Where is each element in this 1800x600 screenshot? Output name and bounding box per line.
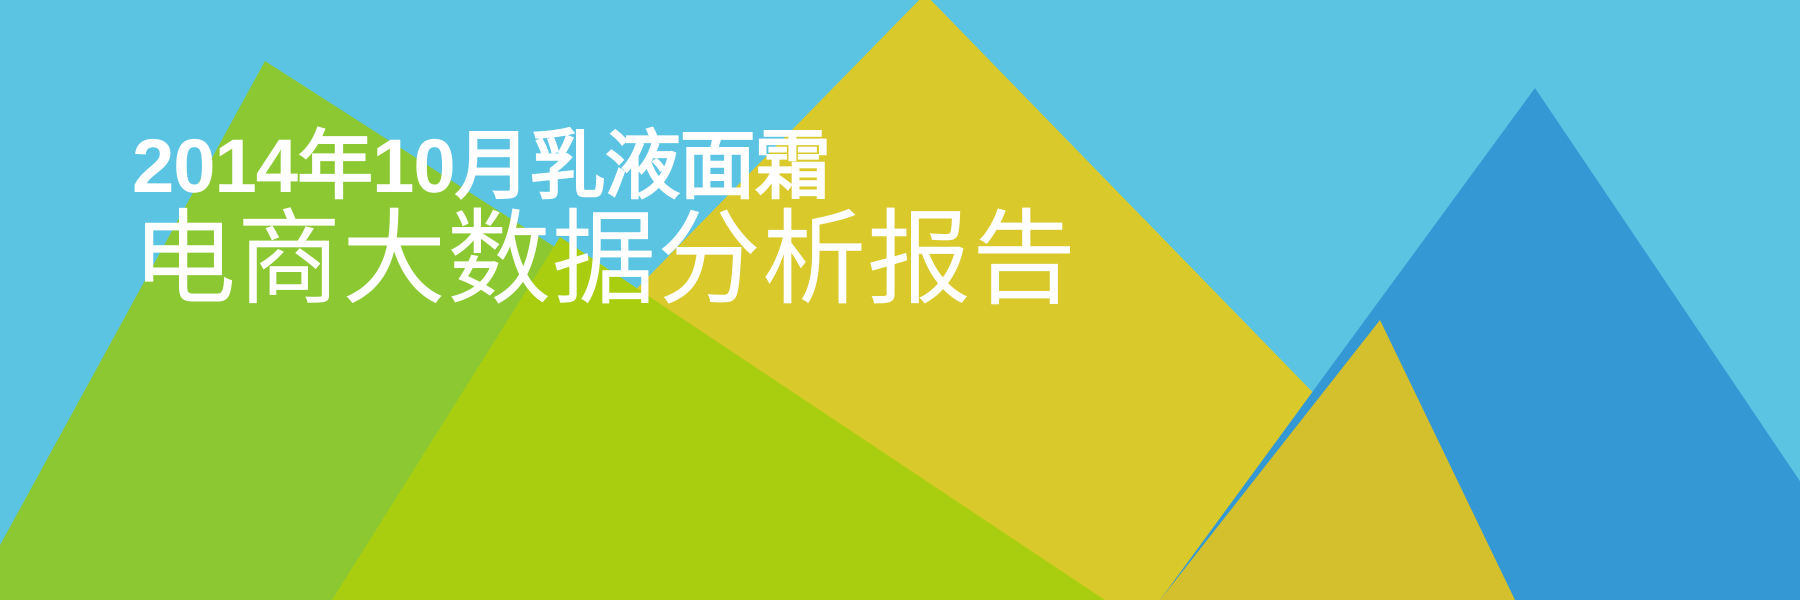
background-graphic [0,0,1800,600]
slide-canvas: 2014年10月乳液面霜 电商大数据分析报告 [0,0,1800,600]
